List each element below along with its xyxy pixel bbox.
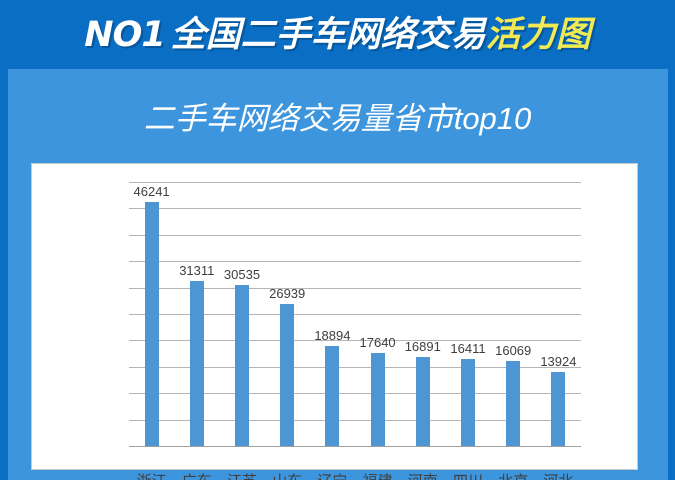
right-edge-strip [668,0,675,480]
infographic-poster: NO1全国二手车网络交易活力图 二手车网络交易量省市top10 05000100… [0,0,675,480]
bar-group[interactable]: 13924河北 [536,182,581,446]
bar-value-label: 16891 [405,339,441,354]
bar-group[interactable]: 16411四川 [445,182,490,446]
bar-value-label: 31311 [179,263,214,278]
bar-value-label: 13924 [540,354,576,369]
bar[interactable] [325,346,339,446]
x-axis-category-label: 河北 [528,470,588,480]
bar[interactable] [506,361,520,446]
bar-group[interactable]: 18894辽宁 [310,182,355,446]
bar-value-label: 30535 [224,267,260,282]
bar-value-label: 18894 [314,328,350,343]
bar[interactable] [280,304,294,446]
chart-card: 0500010000150002000025000300003500040000… [31,163,638,470]
bar-chart: 0500010000150002000025000300003500040000… [32,164,639,471]
title-prefix: NO1 [84,15,164,55]
bar-value-label: 16069 [495,343,531,358]
subtitle-area: 二手车网络交易量省市top10 [0,88,675,148]
bar-group[interactable]: 16069北京 [491,182,536,446]
title-main: 全国二手车网络交易 [171,15,486,54]
bar-group[interactable]: 31311广东 [174,182,219,446]
title-accent: 活力图 [486,15,591,54]
bar-value-label: 17640 [360,335,396,350]
bar[interactable] [416,357,430,446]
bar[interactable] [461,359,475,446]
bar[interactable] [371,353,385,446]
chart-bars: 46241浙江31311广东30535江苏26939山东18894辽宁17640… [129,182,581,446]
bar-group[interactable]: 16891河南 [400,182,445,446]
bar[interactable] [551,372,565,446]
bar-group[interactable]: 17640福建 [355,182,400,446]
bar[interactable] [190,281,204,446]
header-band: NO1全国二手车网络交易活力图 [0,0,675,69]
page-title: NO1全国二手车网络交易活力图 [84,17,590,53]
bar[interactable] [145,202,159,446]
bar[interactable] [235,285,249,446]
bar-value-label: 16411 [450,341,485,356]
bar-group[interactable]: 30535江苏 [219,182,264,446]
bar-group[interactable]: 46241浙江 [129,182,174,446]
left-edge-strip [0,0,8,480]
gridline [129,446,581,447]
bar-value-label: 46241 [134,184,170,199]
bar-group[interactable]: 26939山东 [265,182,310,446]
chart-subtitle: 二手车网络交易量省市top10 [144,103,532,134]
bar-value-label: 26939 [269,286,305,301]
